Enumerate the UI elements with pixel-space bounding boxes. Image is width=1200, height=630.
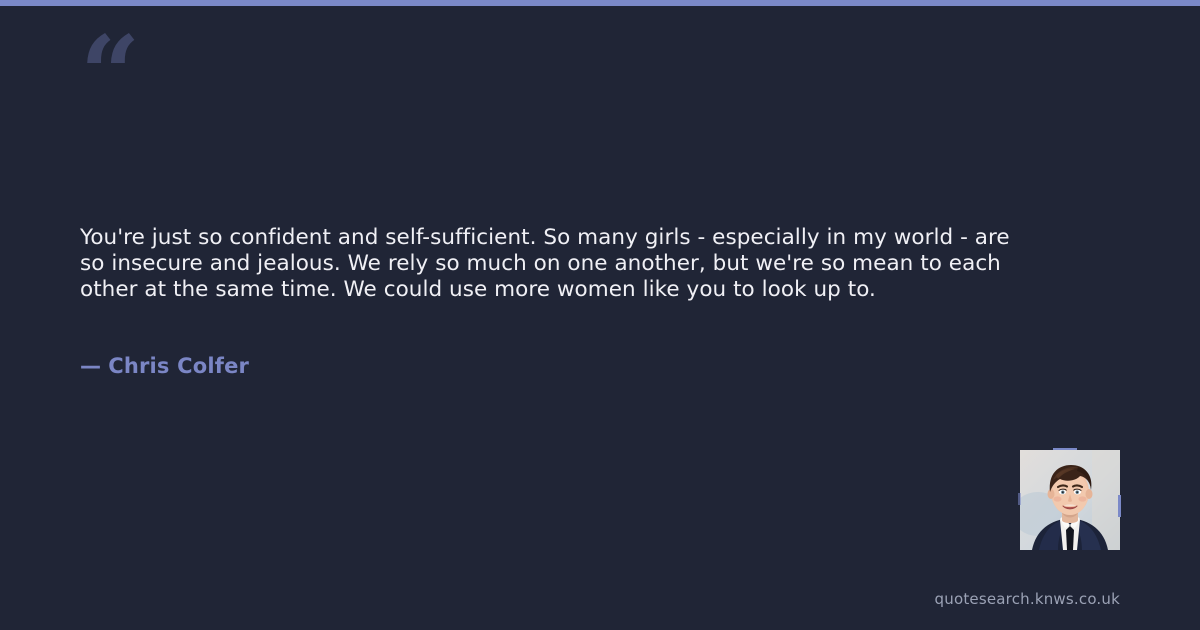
top-accent-bar xyxy=(0,0,1200,6)
opening-quote-icon: “ xyxy=(80,22,138,127)
quote-text: You're just so confident and self-suffic… xyxy=(80,225,1010,303)
attribution-author: Chris Colfer xyxy=(108,354,249,378)
portrait-illustration xyxy=(1020,450,1120,550)
portrait-edge-left xyxy=(1018,493,1021,505)
author-portrait xyxy=(1020,450,1120,550)
source-url: quotesearch.knws.co.uk xyxy=(820,590,1120,608)
portrait-edge-right xyxy=(1118,495,1121,517)
attribution-dash: — xyxy=(80,354,101,378)
attribution: —Chris Colfer xyxy=(80,354,249,378)
portrait-edge-top xyxy=(1053,448,1077,450)
